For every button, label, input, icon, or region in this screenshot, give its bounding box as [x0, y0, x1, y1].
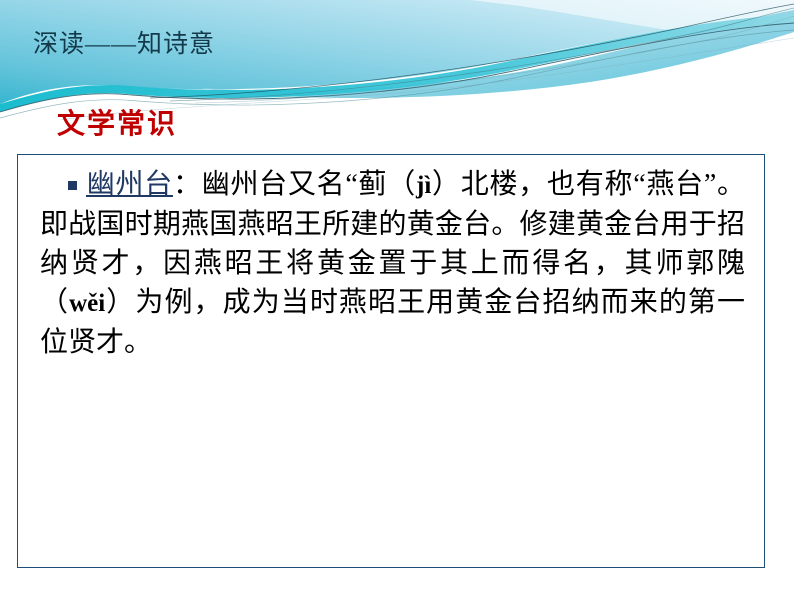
- content-paragraph: 幽州台：幽州台又名“蓟（jì）北楼，也有称“燕台”。即战国时期燕国燕昭王所建的黄…: [40, 165, 745, 362]
- term-colon: ：: [173, 169, 202, 200]
- term-youzhoutai[interactable]: 幽州台: [86, 169, 173, 200]
- pinyin-ji: jì: [416, 172, 431, 199]
- body-text-part-3: ）为例，成为当时燕昭王用黄金台招纳而来的第一位贤才。: [40, 287, 745, 358]
- content-text-box: 幽州台：幽州台又名“蓟（jì）北楼，也有称“燕台”。即战国时期燕国燕昭王所建的黄…: [17, 154, 765, 568]
- section-heading: 文学常识: [57, 107, 177, 143]
- body-text-part-1: 幽州台又名“蓟（: [202, 169, 416, 200]
- slide-title: 深读——知诗意: [33, 29, 215, 61]
- pinyin-wei: wěi: [69, 290, 105, 317]
- presentation-slide: 深读——知诗意 文学常识 幽州台：幽州台又名“蓟（jì）北楼，也有称“燕台”。即…: [0, 0, 794, 596]
- square-bullet-icon: [68, 181, 77, 190]
